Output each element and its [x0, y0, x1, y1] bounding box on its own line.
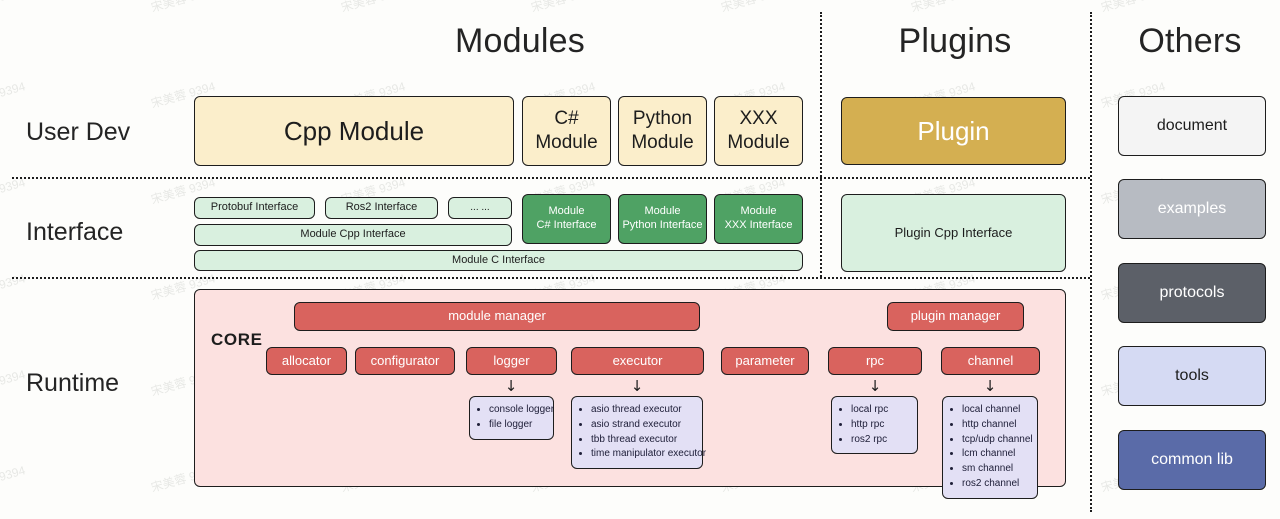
plugin-cpp-interface-box[interactable]: Plugin Cpp Interface — [841, 194, 1066, 272]
divider-userdev-interface — [12, 177, 1090, 179]
list-item: ros2 rpc — [851, 433, 909, 448]
module-csharp-interface-line2: C# Interface — [537, 219, 597, 233]
executor-label: executor — [613, 353, 663, 369]
ros2-interface-label: Ros2 Interface — [346, 201, 418, 215]
ros2-interface-box[interactable]: Ros2 Interface — [325, 197, 438, 219]
xxx-module-label-line2: Module — [727, 131, 789, 155]
column-title-modules: Modules — [330, 22, 710, 61]
others-item-label: common lib — [1151, 450, 1233, 470]
watermark-text: 宋美蓉 9394 — [529, 0, 597, 16]
row-label-interface: Interface — [26, 218, 123, 247]
divider-interface-runtime — [12, 277, 1090, 279]
csharp-module-box[interactable]: C# Module — [522, 96, 611, 166]
watermark-text: 宋美蓉 9394 — [0, 365, 27, 400]
xxx-module-label-line1: XXX — [739, 107, 777, 131]
others-item-protocols[interactable]: protocols — [1118, 263, 1266, 323]
more-interface-box[interactable]: ... ... — [448, 197, 512, 219]
module-xxx-interface-line1: Module — [740, 205, 776, 219]
list-item: sm channel — [962, 462, 1029, 477]
module-manager-label: module manager — [448, 308, 546, 324]
module-c-interface-box[interactable]: Module C Interface — [194, 250, 803, 271]
module-cpp-interface-box[interactable]: Module Cpp Interface — [194, 224, 512, 246]
watermark-text: 宋美蓉 9394 — [719, 0, 787, 16]
row-label-runtime: Runtime — [26, 369, 119, 398]
channel-children-ul: local channel http channel tcp/udp chann… — [949, 403, 1029, 492]
row-label-user-dev: User Dev — [26, 118, 130, 147]
python-module-label-line2: Module — [631, 131, 693, 155]
logger-arrow-icon: ↓ — [504, 379, 518, 394]
channel-arrow-icon: ↓ — [983, 379, 997, 394]
architecture-diagram: 宋美蓉 9394宋美蓉 9394宋美蓉 9394宋美蓉 9394宋美蓉 9394… — [0, 0, 1280, 519]
list-item: tcp/udp channel — [962, 433, 1029, 448]
others-item-common-lib[interactable]: common lib — [1118, 430, 1266, 490]
module-python-interface-line1: Module — [644, 205, 680, 219]
rpc-children-ul: local rpc http rpc ros2 rpc — [838, 403, 909, 447]
rpc-label: rpc — [866, 353, 884, 369]
logger-box[interactable]: logger — [466, 347, 557, 375]
list-item: tbb thread executor — [591, 433, 694, 448]
list-item: lcm channel — [962, 447, 1029, 462]
others-item-tools[interactable]: tools — [1118, 346, 1266, 406]
watermark-text: 宋美蓉 9394 — [909, 0, 977, 16]
list-item: http channel — [962, 418, 1029, 433]
configurator-label: configurator — [371, 353, 440, 369]
column-title-others: Others — [1100, 22, 1280, 61]
rpc-box[interactable]: rpc — [828, 347, 922, 375]
channel-box[interactable]: channel — [941, 347, 1040, 375]
rpc-arrow-icon: ↓ — [868, 379, 882, 394]
module-cpp-interface-label: Module Cpp Interface — [300, 228, 405, 242]
column-title-plugins: Plugins — [810, 22, 1100, 61]
watermark-text: 宋美蓉 9394 — [0, 77, 27, 112]
list-item: asio thread executor — [591, 403, 694, 418]
module-python-interface-line2: Python Interface — [622, 219, 702, 233]
module-csharp-interface-box[interactable]: Module C# Interface — [522, 194, 611, 244]
module-xxx-interface-line2: XXX Interface — [725, 219, 793, 233]
logger-children-list: console logger file logger — [469, 396, 554, 440]
plugin-label: Plugin — [917, 115, 989, 148]
watermark-text: 宋美蓉 9394 — [149, 0, 217, 16]
more-interface-label: ... ... — [470, 202, 489, 215]
list-item: http rpc — [851, 418, 909, 433]
list-item: time manipulator executor — [591, 447, 694, 462]
logger-label: logger — [493, 353, 529, 369]
python-module-box[interactable]: Python Module — [618, 96, 707, 166]
python-module-label-line1: Python — [633, 107, 692, 131]
others-item-document[interactable]: document — [1118, 96, 1266, 156]
divider-plugins-others — [1090, 12, 1092, 512]
parameter-box[interactable]: parameter — [721, 347, 809, 375]
watermark-text: 宋美蓉 9394 — [1099, 0, 1167, 16]
xxx-module-box[interactable]: XXX Module — [714, 96, 803, 166]
executor-children-list: asio thread executor asio strand executo… — [571, 396, 703, 469]
channel-children-list: local channel http channel tcp/udp chann… — [942, 396, 1038, 499]
configurator-box[interactable]: configurator — [355, 347, 455, 375]
others-item-label: protocols — [1160, 283, 1225, 303]
watermark-text: 宋美蓉 9394 — [0, 0, 27, 16]
csharp-module-label-line1: C# — [554, 107, 578, 131]
cpp-module-label: Cpp Module — [284, 115, 424, 148]
protobuf-interface-box[interactable]: Protobuf Interface — [194, 197, 315, 219]
plugin-manager-label: plugin manager — [911, 308, 1001, 324]
others-item-label: tools — [1175, 366, 1209, 386]
executor-box[interactable]: executor — [571, 347, 704, 375]
module-xxx-interface-box[interactable]: Module XXX Interface — [714, 194, 803, 244]
executor-arrow-icon: ↓ — [630, 379, 644, 394]
channel-label: channel — [968, 353, 1014, 369]
plugin-manager-box[interactable]: plugin manager — [887, 302, 1024, 331]
cpp-module-box[interactable]: Cpp Module — [194, 96, 514, 166]
divider-modules-plugins — [820, 12, 822, 277]
module-manager-box[interactable]: module manager — [294, 302, 700, 331]
protobuf-interface-label: Protobuf Interface — [211, 201, 298, 215]
plugin-box[interactable]: Plugin — [841, 97, 1066, 165]
watermark-text: 宋美蓉 9394 — [0, 461, 27, 496]
watermark-text: 宋美蓉 9394 — [0, 269, 27, 304]
list-item: file logger — [489, 418, 545, 433]
core-label: CORE — [211, 330, 263, 350]
watermark-text: 宋美蓉 9394 — [339, 0, 407, 16]
module-c-interface-label: Module C Interface — [452, 254, 545, 268]
list-item: local rpc — [851, 403, 909, 418]
executor-children-ul: asio thread executor asio strand executo… — [578, 403, 694, 462]
rpc-children-list: local rpc http rpc ros2 rpc — [831, 396, 918, 454]
csharp-module-label-line2: Module — [535, 131, 597, 155]
module-csharp-interface-line1: Module — [548, 205, 584, 219]
allocator-label: allocator — [282, 353, 331, 369]
plugin-cpp-interface-label: Plugin Cpp Interface — [895, 225, 1013, 241]
others-item-label: examples — [1158, 199, 1226, 219]
others-item-label: document — [1157, 116, 1227, 136]
others-item-examples[interactable]: examples — [1118, 179, 1266, 239]
list-item: local channel — [962, 403, 1029, 418]
list-item: asio strand executor — [591, 418, 694, 433]
list-item: ros2 channel — [962, 477, 1029, 492]
module-python-interface-box[interactable]: Module Python Interface — [618, 194, 707, 244]
allocator-box[interactable]: allocator — [266, 347, 347, 375]
parameter-label: parameter — [735, 353, 794, 369]
logger-children-ul: console logger file logger — [476, 403, 545, 433]
list-item: console logger — [489, 403, 545, 418]
